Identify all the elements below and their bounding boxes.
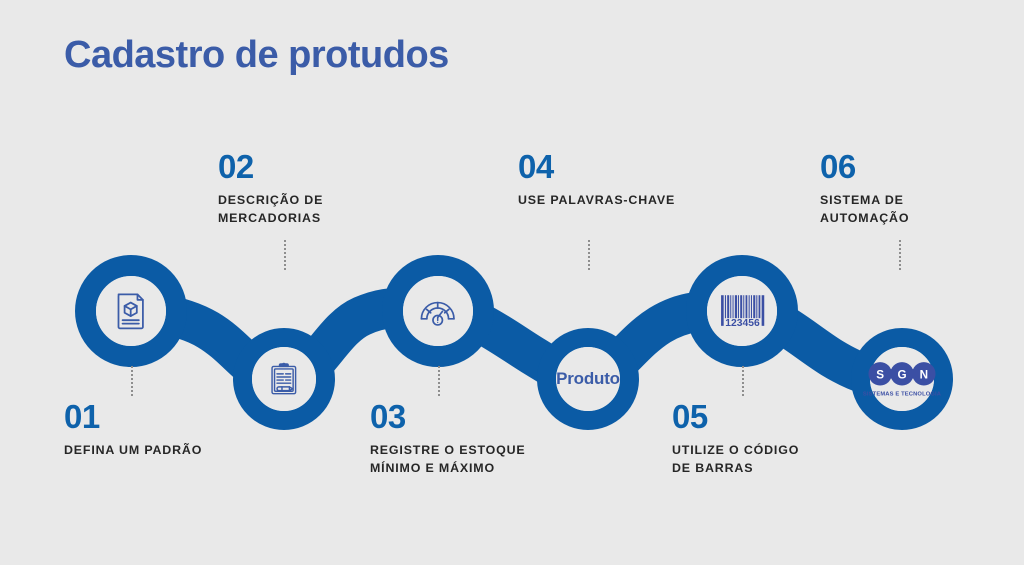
barcode-digits: 123456 (725, 318, 760, 329)
step-title-01: DEFINA UM PADRÃO (64, 442, 202, 460)
step-title-06: SISTEMA DE AUTOMAÇÃO (820, 192, 909, 227)
node-inner-06: S G N SISTEMAS E TECNOLOGIA (870, 347, 934, 411)
step-title-03: REGISTRE O ESTOQUE MÍNIMO E MÁXIMO (370, 442, 526, 477)
dotline-step-03 (438, 366, 440, 396)
node-inner-03 (403, 276, 473, 346)
step-label-02: 02 DESCRIÇÃO DE MERCADORIAS (218, 150, 323, 227)
sgn-letter-g: G (897, 369, 906, 382)
page-title: Cadastro de protudos (64, 34, 449, 77)
sgn-logo-icon: S G N SISTEMAS E TECNOLOGIA (863, 358, 941, 400)
step-number-01: 01 (64, 400, 202, 433)
sgn-letter-s: S (876, 369, 884, 382)
step-label-05: 05 UTILIZE O CÓDIGO DE BARRAS (672, 400, 799, 477)
dotline-step-05 (742, 366, 744, 396)
step-label-01: 01 DEFINA UM PADRÃO (64, 400, 202, 460)
dotline-step-04 (588, 240, 590, 270)
node-step-05[interactable]: 123456 (686, 255, 798, 367)
node-step-03[interactable] (382, 255, 494, 367)
infographic-canvas: Cadastro de protudos (0, 0, 1024, 565)
step-label-03: 03 REGISTRE O ESTOQUE MÍNIMO E MÁXIMO (370, 400, 526, 477)
sgn-tagline: SISTEMAS E TECNOLOGIA (863, 392, 941, 398)
node-inner-04: Produto (556, 347, 620, 411)
step-label-06: 06 SISTEMA DE AUTOMAÇÃO (820, 150, 909, 227)
step-number-05: 05 (672, 400, 799, 433)
barcode-icon: 123456 (718, 291, 767, 332)
step-title-04: USE PALAVRAS-CHAVE (518, 192, 675, 210)
step-title-05: UTILIZE O CÓDIGO DE BARRAS (672, 442, 799, 477)
step-number-06: 06 (820, 150, 909, 183)
sgn-letter-n: N (920, 369, 928, 382)
node-step-02[interactable] (233, 328, 335, 430)
node-inner-01 (96, 276, 166, 346)
dotline-step-02 (284, 240, 286, 270)
document-box-icon (109, 289, 152, 332)
clipboard-pencil-icon (264, 359, 304, 399)
node-step-04[interactable]: Produto (537, 328, 639, 430)
produto-label: Produto (556, 369, 620, 389)
gauge-alert-icon (416, 289, 459, 332)
dotline-step-01 (131, 366, 133, 396)
node-step-06[interactable]: S G N SISTEMAS E TECNOLOGIA (851, 328, 953, 430)
node-inner-05: 123456 (707, 276, 777, 346)
step-number-04: 04 (518, 150, 675, 183)
step-number-02: 02 (218, 150, 323, 183)
step-title-02: DESCRIÇÃO DE MERCADORIAS (218, 192, 323, 227)
dotline-step-06 (899, 240, 901, 270)
step-label-04: 04 USE PALAVRAS-CHAVE (518, 150, 675, 210)
step-number-03: 03 (370, 400, 526, 433)
node-step-01[interactable] (75, 255, 187, 367)
node-inner-02 (252, 347, 316, 411)
